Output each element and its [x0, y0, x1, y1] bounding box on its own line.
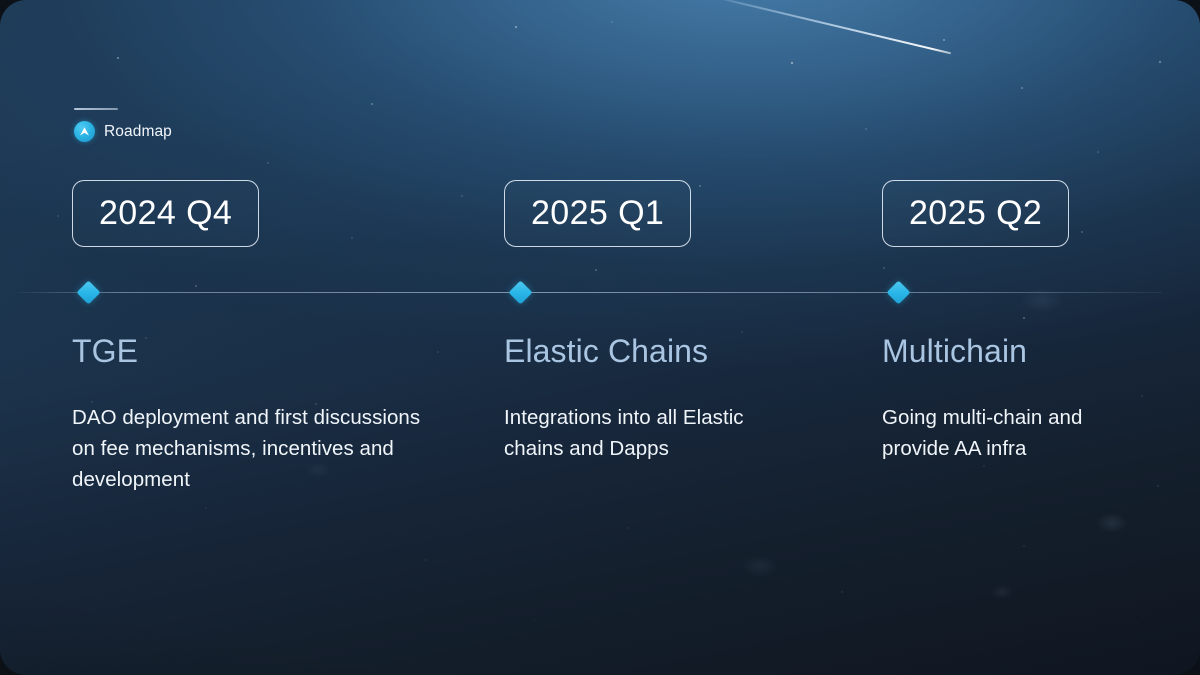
- milestone-period-badge: 2024 Q4: [72, 180, 259, 247]
- milestone-period-badge: 2025 Q2: [882, 180, 1069, 247]
- milestone-period-badge: 2025 Q1: [504, 180, 691, 247]
- milestone-title: Multichain: [882, 334, 1027, 369]
- shooting-star-icon: [706, 0, 944, 56]
- shooting-star-streak: [706, 0, 952, 54]
- milestone-description: Integrations into all Elastic chains and…: [504, 402, 804, 464]
- section-label: Roadmap: [104, 123, 172, 141]
- milestone-title: Elastic Chains: [504, 334, 708, 369]
- timeline-diamond-marker: [508, 280, 532, 304]
- milestone-description: Going multi-chain and provide AA infra: [882, 402, 1150, 464]
- up-arrow-badge-icon: [74, 121, 95, 142]
- timeline-diamond-marker: [886, 280, 910, 304]
- timeline-axis: [18, 292, 1162, 293]
- milestone-title: TGE: [72, 334, 138, 369]
- section-label-group: Roadmap: [74, 121, 172, 142]
- roadmap-slide: Roadmap 2024 Q4 TGE DAO deployment and f…: [0, 0, 1200, 675]
- eyebrow-divider: [74, 108, 118, 110]
- timeline-diamond-marker: [76, 280, 100, 304]
- milestone-description: DAO deployment and first discussions on …: [72, 402, 442, 495]
